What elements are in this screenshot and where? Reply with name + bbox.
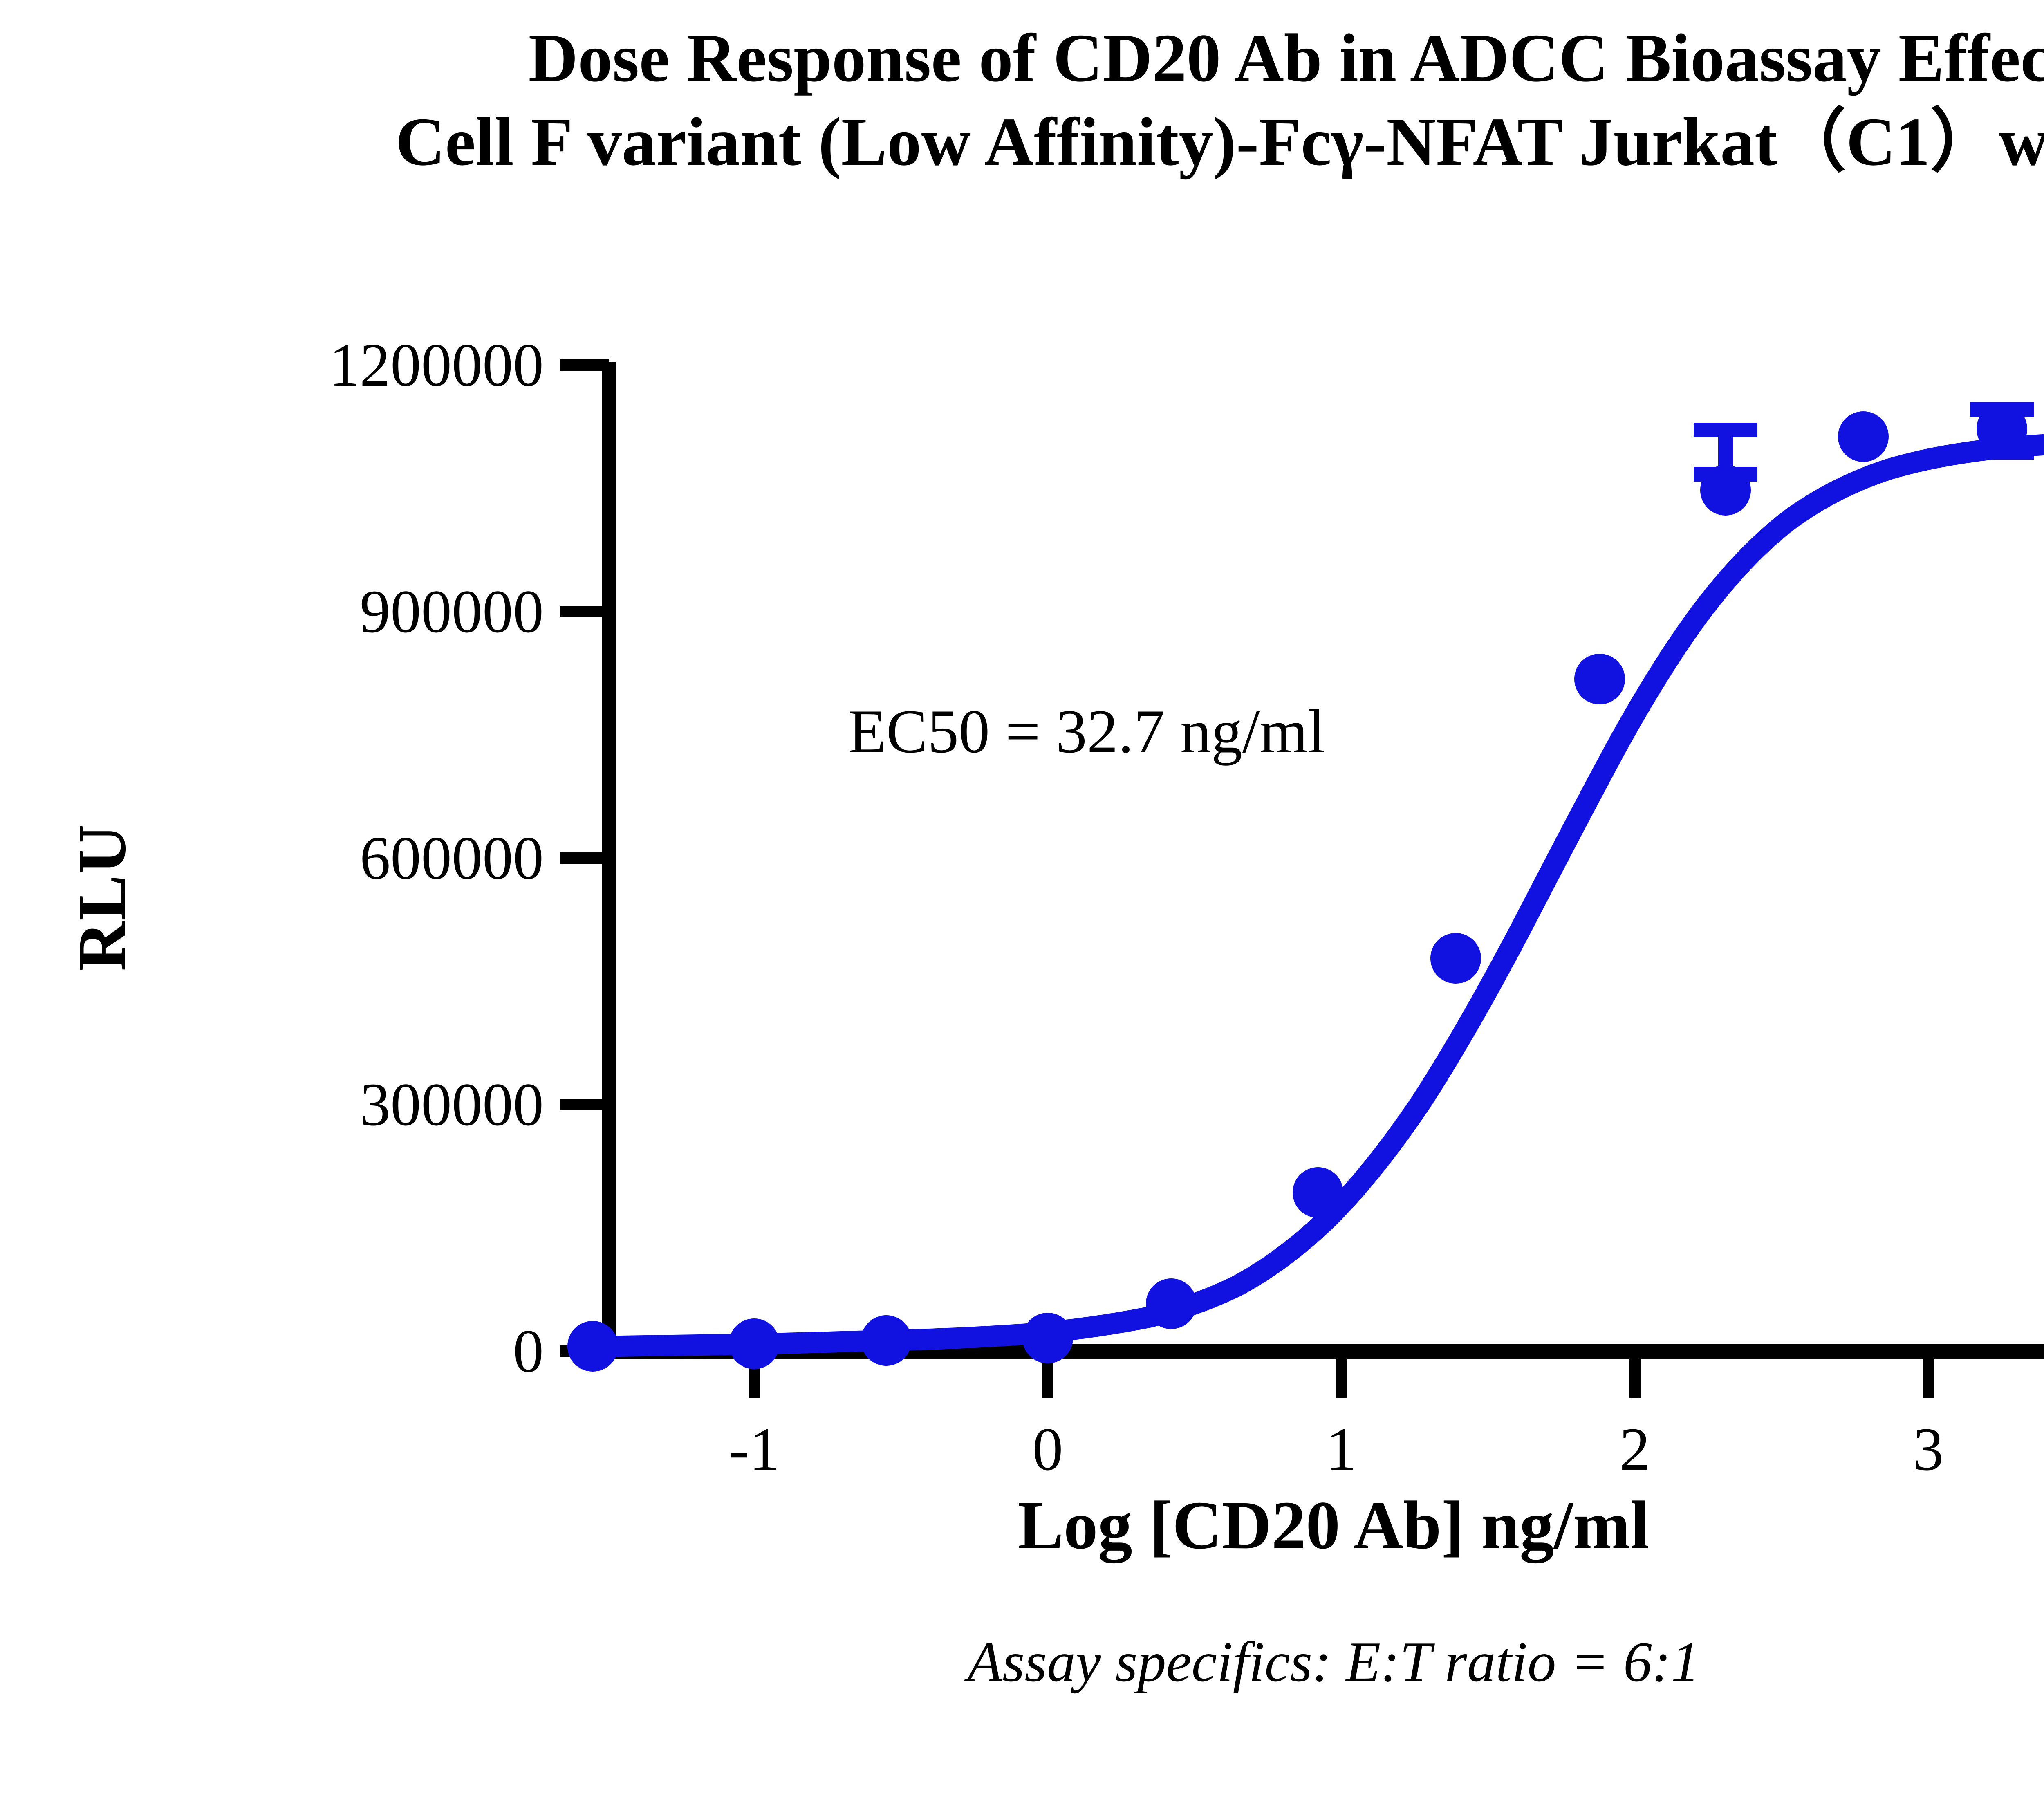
x-tick-label: -1 (729, 1419, 780, 1480)
data-point (567, 1321, 618, 1372)
assay-specifics-caption: Assay specifics: E:T ratio = 6:1 (0, 1629, 2044, 1695)
data-point (861, 1315, 912, 1366)
data-point (1430, 933, 1481, 984)
x-axis-title: Log [CD20 Ab] ng/ml (0, 1486, 2044, 1565)
data-point (729, 1318, 780, 1369)
data-point (1293, 1167, 1343, 1218)
x-tick-label: 1 (1326, 1419, 1357, 1480)
y-tick-label: 900000 (192, 581, 544, 642)
data-point (1022, 1313, 1073, 1363)
data-point (1146, 1278, 1197, 1329)
data-point (1574, 654, 1625, 704)
y-tick-label: 1200000 (192, 334, 544, 396)
plot-area: 1200000 900000 600000 300000 0 -1 0 1 2 … (0, 0, 2044, 1798)
x-tick-label: 2 (1620, 1419, 1650, 1480)
data-point-markers (567, 404, 2027, 1372)
data-point (1977, 404, 2027, 454)
data-point (1700, 465, 1751, 516)
x-tick-label: 3 (1913, 1419, 1944, 1480)
y-tick-label: 300000 (192, 1074, 544, 1135)
x-tick-label: 0 (1033, 1419, 1063, 1480)
data-point (1838, 411, 1889, 462)
ec50-annotation: EC50 = 32.7 ng/ml (848, 696, 1325, 767)
y-tick-label: 0 (192, 1320, 544, 1382)
chart-figure: Dose Response of CD20 Ab in ADCC Bioassa… (0, 0, 2044, 1798)
y-tick-label: 600000 (192, 827, 544, 889)
y-axis-title: RLU (63, 824, 142, 971)
